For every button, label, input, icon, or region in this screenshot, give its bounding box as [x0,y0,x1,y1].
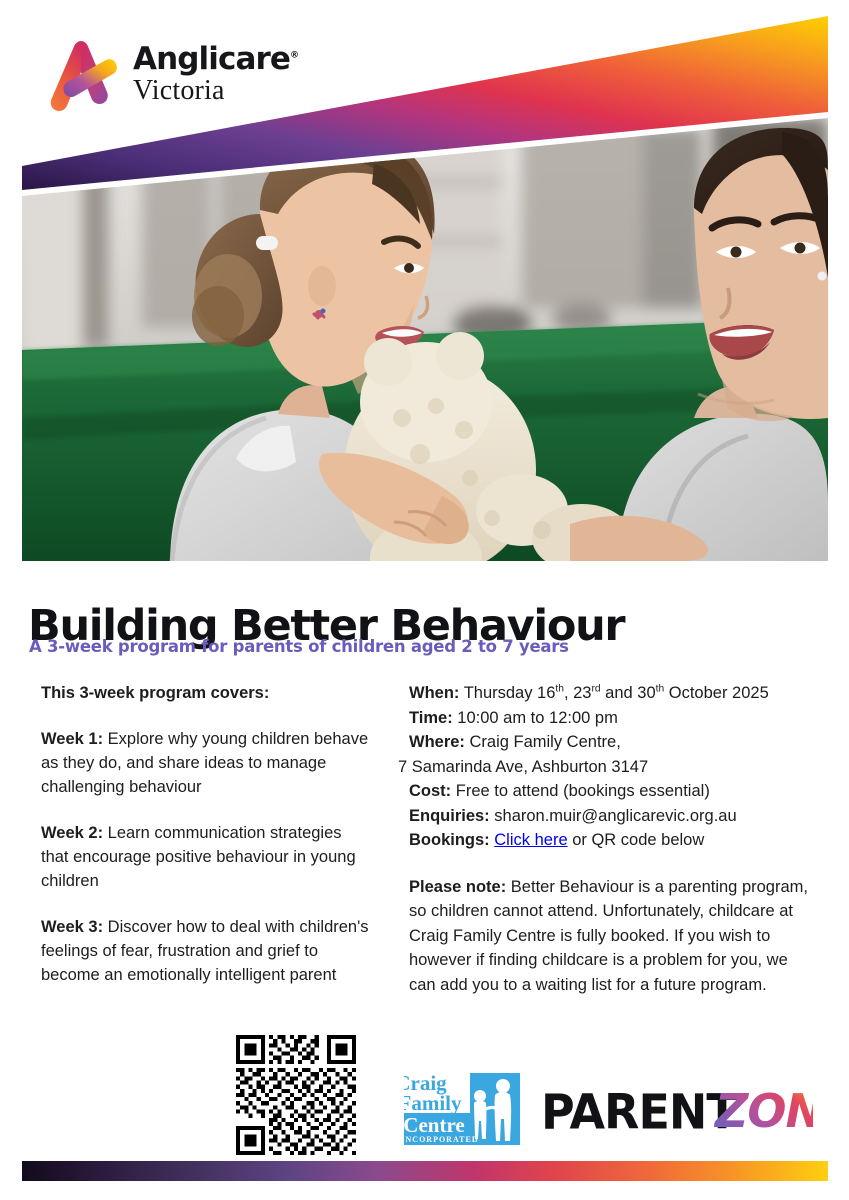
program-covers-heading: This 3-week program covers: [41,681,371,705]
enquiries-email[interactable]: sharon.muir@anglicarevic.org.au [490,807,737,825]
where-value: Craig Family Centre, [465,733,621,751]
when-suffix: October 2025 [664,684,769,702]
page-subtitle: A 3-week program for parents of children… [29,639,569,656]
week-2-item: Week 2: Learn communication strategies t… [41,821,371,893]
please-note-label: Please note: [409,878,506,896]
gradient-footer-bar [22,1161,828,1181]
qr-code-matrix [236,1035,356,1155]
please-note-paragraph: Please note: Better Behaviour is a paren… [398,875,818,998]
bookings-line: Bookings: Click here or QR code below [398,828,818,853]
when-prefix: Thursday 16 [459,684,555,702]
bookings-click-here-link[interactable]: Click here [494,831,567,849]
when-mid-1: , 23 [564,684,592,702]
hero-photo [22,118,828,561]
cost-value: Free to attend (bookings essential) [451,782,710,800]
time-value: 10:00 am to 12:00 pm [453,709,618,727]
bookings-label: Bookings: [409,831,490,849]
craig-logo-graphic: Craig Family Centre INCORPORATED [404,1069,520,1149]
parentzone-word-black: PARENT [541,1085,738,1137]
bookings-suffix: or QR code below [568,831,705,849]
enquiries-line: Enquiries: sharon.muir@anglicarevic.org.… [398,804,818,829]
when-line: When: Thursday 16th, 23rd and 30th Octob… [398,681,818,706]
craig-family-centre-logo: Craig Family Centre INCORPORATED [404,1069,520,1149]
where-label: Where: [409,733,465,751]
parentzone-word-gradient: ZONE [713,1085,813,1137]
week-3-item: Week 3: Discover how to deal with childr… [41,915,371,987]
craig-line-3: Centre [404,1113,465,1137]
week-3-label: Week 3: [41,918,103,936]
cost-line: Cost: Free to attend (bookings essential… [398,779,818,804]
address-line: 7 Samarinda Ave, Ashburton 3147 [398,755,818,780]
logo-wordmark: Anglicare® Victoria [133,44,299,105]
when-ordinal-1: th [555,684,564,695]
anglicare-a-mark-icon [48,36,120,112]
week-2-label: Week 2: [41,824,103,842]
program-outline-column: This 3-week program covers: Week 1: Expl… [41,681,371,987]
cost-label: Cost: [409,782,451,800]
when-ordinal-2: rd [591,684,600,695]
anglicare-victoria-logo: Anglicare® Victoria [48,36,299,112]
craig-line-2: Family [404,1091,462,1115]
logo-anglicare-text: Anglicare® [133,44,299,75]
week-1-item: Week 1: Explore why young children behav… [41,727,371,799]
event-details-column: When: Thursday 16th, 23rd and 30th Octob… [398,681,818,997]
craig-line-4: INCORPORATED [404,1135,479,1144]
week-1-label: Week 1: [41,730,103,748]
time-label: Time: [409,709,453,727]
when-label: When: [409,684,459,702]
where-line: Where: Craig Family Centre, [398,730,818,755]
logo-victoria-text: Victoria [133,77,299,105]
hero-photo-illustration [22,118,828,561]
registered-mark-icon: ® [290,50,299,60]
qr-code-icon[interactable] [236,1035,356,1155]
time-line: Time: 10:00 am to 12:00 pm [398,706,818,731]
when-ordinal-3: th [656,684,665,695]
when-mid-2: and 30 [601,684,656,702]
flyer-page: Anglicare® Victoria Building Better Beha… [0,0,849,1200]
parentzone-logo: PARENT ZONE [541,1085,813,1137]
parentzone-graphic: PARENT ZONE [541,1085,813,1137]
enquiries-label: Enquiries: [409,807,490,825]
